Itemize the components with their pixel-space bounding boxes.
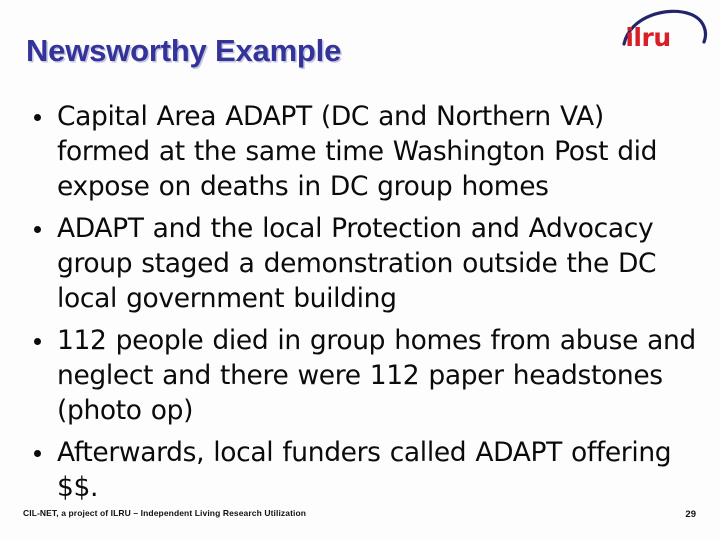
list-item: Afterwards, local funders called ADAPT o… <box>28 435 696 505</box>
list-item: ADAPT and the local Protection and Advoc… <box>28 211 696 316</box>
ilru-wordmark: ilru <box>625 23 670 52</box>
slide-canvas: ilru Newsworthy Example Capital Area ADA… <box>0 0 720 540</box>
list-item: Capital Area ADAPT (DC and Northern VA) … <box>28 99 696 204</box>
ilru-logo: ilru <box>620 6 712 54</box>
footer-note: CIL-NET, a project of ILRU – Independent… <box>23 508 306 518</box>
bullet-list: Capital Area ADAPT (DC and Northern VA) … <box>28 99 696 512</box>
list-item: 112 people died in group homes from abus… <box>28 323 696 428</box>
page-title: Newsworthy Example <box>26 33 341 69</box>
page-number: 29 <box>685 509 696 520</box>
ilru-logo-icon: ilru <box>620 6 712 54</box>
